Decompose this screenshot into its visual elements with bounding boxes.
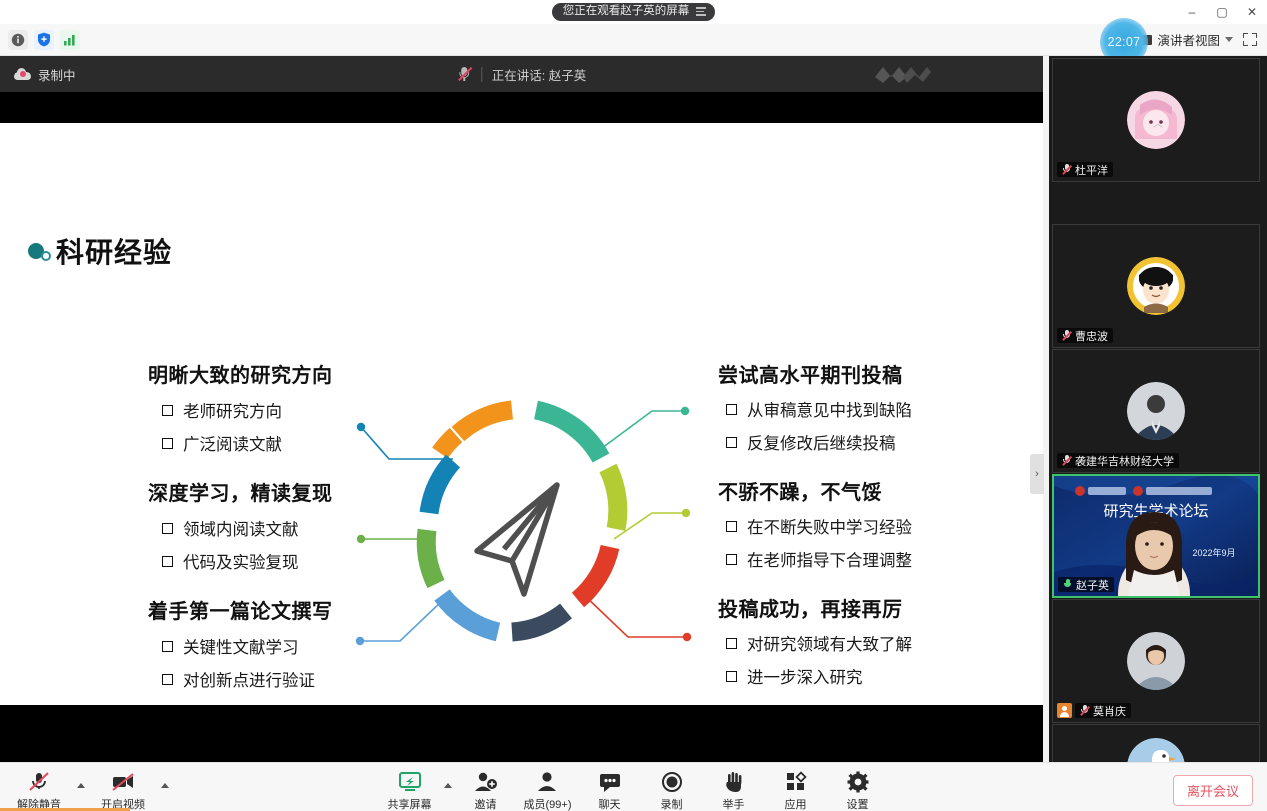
paper-plane-icon <box>477 485 557 594</box>
list-item: 领域内阅读文献 <box>162 516 378 540</box>
participant-tile[interactable]: 莫肖庆 <box>1052 599 1260 723</box>
list-item: 在不断失败中学习经验 <box>726 514 968 538</box>
checkbox-square-icon <box>726 521 737 532</box>
apps-icon <box>783 771 809 793</box>
block-heading: 深度学习，精读复现 <box>148 477 378 506</box>
panel-collapse-handle[interactable]: › <box>1030 454 1044 494</box>
block-heading: 着手第一篇论文撰写 <box>148 595 378 624</box>
avatar <box>1127 382 1185 440</box>
invite-label: 邀请 <box>475 796 497 811</box>
list-item-label: 进一步深入研究 <box>747 664 863 688</box>
participant-name: 莫肖庆 <box>1093 703 1126 719</box>
checkbox-square-icon <box>162 641 173 652</box>
share-status-bar: 录制中 正在讲话: 赵子英 <box>0 56 1043 92</box>
chat-button[interactable]: 聊天 <box>579 767 641 811</box>
list-item: 对研究领域有大致了解 <box>726 631 968 655</box>
invite-icon <box>473 771 499 793</box>
raise-hand-icon <box>721 771 747 793</box>
mic-muted-icon <box>26 771 52 793</box>
apps-button[interactable]: 应用 <box>765 767 827 811</box>
slide-left-column: 明晰大致的研究方向 老师研究方向 广泛阅读文献 深度学习，精读复现 领域内阅读文… <box>148 359 378 705</box>
checkbox-square-icon <box>726 671 737 682</box>
participant-tile[interactable]: 袭建华吉林财经大学 <box>1052 349 1260 473</box>
record-icon <box>659 771 685 793</box>
pill-menu-icon[interactable] <box>696 7 706 16</box>
list-item: 老师研究方向 <box>162 398 378 422</box>
mic-muted-icon <box>1062 330 1071 341</box>
list-item-label: 广泛阅读文献 <box>183 431 282 455</box>
checkbox-square-icon <box>162 438 173 449</box>
apps-label: 应用 <box>785 796 807 811</box>
window-title-bar: 您正在观看赵子英的屏幕 – ▢ ✕ <box>0 0 1267 24</box>
slide-block: 深度学习，精读复现 领域内阅读文献 代码及实验复现 <box>148 477 378 573</box>
meeting-toolbar: 解除静音 开启视频 <box>0 762 1267 811</box>
close-button[interactable]: ✕ <box>1237 0 1267 24</box>
view-mode-label: 演讲者视图 <box>1157 30 1220 49</box>
participant-nametag: 杜平洋 <box>1057 162 1113 177</box>
list-item-label: 从审稿意见中找到缺陷 <box>747 397 912 421</box>
camera-off-icon <box>110 771 136 793</box>
slide-block: 明晰大致的研究方向 老师研究方向 广泛阅读文献 <box>148 359 378 455</box>
maximize-button[interactable]: ▢ <box>1207 0 1237 24</box>
avatar-badge-icon <box>1057 703 1072 718</box>
participant-name: 赵子英 <box>1076 577 1109 593</box>
list-item: 从审稿意见中找到缺陷 <box>726 397 968 421</box>
record-label: 录制 <box>661 796 683 811</box>
checkbox-square-icon <box>726 437 737 448</box>
cloud-recording-icon <box>14 69 31 80</box>
list-item: 进一步深入研究 <box>726 664 968 688</box>
block-list: 从审稿意见中找到缺陷 反复修改后继续投稿 <box>718 397 968 454</box>
participant-nametag: 袭建华吉林财经大学 <box>1057 453 1179 468</box>
share-screen-label: 共享屏幕 <box>388 796 432 811</box>
fullscreen-icon[interactable] <box>1243 33 1257 46</box>
list-item: 对创新点进行验证 <box>162 667 378 691</box>
video-options-caret[interactable] <box>158 767 172 788</box>
slide-block: 尝试高水平期刊投稿 从审稿意见中找到缺陷 反复修改后继续投稿 <box>718 359 968 454</box>
raise-hand-button[interactable]: 举手 <box>703 767 765 811</box>
list-item: 代码及实验复现 <box>162 549 378 573</box>
clock-time: 22:07 <box>1108 35 1141 49</box>
shared-screen-area: 录制中 正在讲话: 赵子英 科研经验 <box>0 56 1043 762</box>
slide-block: 着手第一篇论文撰写 关键性文献学习 对创新点进行验证 <box>148 595 378 691</box>
list-item-label: 对创新点进行验证 <box>183 667 315 691</box>
list-item-label: 老师研究方向 <box>183 398 282 422</box>
list-item: 广泛阅读文献 <box>162 431 378 455</box>
participant-tile-active-speaker[interactable]: 研究生学术论坛 2022年9月 赵子英 <box>1052 474 1260 598</box>
checkbox-square-icon <box>726 554 737 565</box>
list-item: 在老师指导下合理调整 <box>726 547 968 571</box>
share-screen-icon <box>397 771 423 793</box>
checkbox-square-icon <box>726 404 737 415</box>
participant-tile[interactable]: 曹忠波 <box>1052 224 1260 348</box>
chat-label: 聊天 <box>599 796 621 811</box>
presentation-slide: 科研经验 明晰大致的研究方向 老师研究方向 广泛阅读文献 深度学习，精读复现 领… <box>0 123 1043 705</box>
block-list: 对研究领域有大致了解 进一步深入研究 <box>718 631 968 688</box>
avatar <box>1127 738 1185 762</box>
audio-wave-icon <box>873 63 933 85</box>
list-item-label: 反复修改后继续投稿 <box>747 430 896 454</box>
screen-share-notice-pill[interactable]: 您正在观看赵子英的屏幕 <box>552 3 716 22</box>
chrome-left-icons <box>0 30 80 50</box>
chevron-down-icon <box>1225 37 1233 42</box>
start-video-button[interactable]: 开启视频 <box>92 767 154 811</box>
mic-muted-icon <box>457 66 471 82</box>
audio-options-caret[interactable] <box>74 767 88 788</box>
video-overlay-line2: 2022年9月 <box>1192 547 1235 558</box>
settings-gear-icon <box>845 771 871 793</box>
participants-button[interactable]: 成员(99+) <box>517 767 579 811</box>
raise-hand-label: 举手 <box>723 796 745 811</box>
circular-diagram <box>352 389 696 653</box>
invite-button[interactable]: 邀请 <box>455 767 517 811</box>
checkbox-square-icon <box>162 523 173 534</box>
slide-block: 不骄不躁，不气馁 在不断失败中学习经验 在老师指导下合理调整 <box>718 476 968 571</box>
list-item-label: 在老师指导下合理调整 <box>747 547 912 571</box>
list-item: 反复修改后继续投稿 <box>726 430 968 454</box>
secondary-toolbar: 30 演讲者视图 <box>0 24 1267 56</box>
screen-share-notice-text: 您正在观看赵子英的屏幕 <box>563 6 690 18</box>
active-speaker-indicator: 正在讲话: 赵子英 <box>457 65 586 84</box>
checkbox-square-icon <box>726 638 737 649</box>
list-item-label: 领域内阅读文献 <box>183 516 299 540</box>
block-heading: 投稿成功，再接再厉 <box>718 593 968 622</box>
unmute-button[interactable]: 解除静音 <box>8 767 70 811</box>
list-item-label: 代码及实验复现 <box>183 549 299 573</box>
mic-muted-icon <box>1062 455 1071 466</box>
chat-icon <box>597 771 623 793</box>
mic-muted-icon <box>1062 164 1071 175</box>
list-item: 关键性文献学习 <box>162 634 378 658</box>
speaking-label: 正在讲话: 赵子英 <box>492 65 586 84</box>
rail-scroll-up-button[interactable]: ︿ <box>1049 114 1267 130</box>
list-item-label: 在不断失败中学习经验 <box>747 514 912 538</box>
signal-bars-icon[interactable] <box>60 30 80 50</box>
recording-label: 录制中 <box>38 65 76 84</box>
settings-button[interactable]: 设置 <box>827 767 889 811</box>
participants-rail: ︿ 杜平洋 <box>1049 56 1267 762</box>
zoom-meeting-window: 您正在观看赵子英的屏幕 – ▢ ✕ 30 演讲者视图 <box>0 0 1267 811</box>
info-icon[interactable] <box>8 30 28 50</box>
block-heading: 尝试高水平期刊投稿 <box>718 359 968 388</box>
avatar <box>1127 257 1185 315</box>
mic-muted-icon <box>1080 705 1089 716</box>
block-heading: 不骄不躁，不气馁 <box>718 476 968 505</box>
participant-nametag: 莫肖庆 <box>1075 703 1131 718</box>
block-list: 老师研究方向 广泛阅读文献 <box>148 398 378 455</box>
toolbar-center-group: 共享屏幕 邀请 <box>379 767 889 811</box>
toolbar-left-group: 解除静音 开启视频 <box>8 767 172 811</box>
participants-label: 成员(99+) <box>524 796 572 811</box>
checkbox-square-icon <box>162 556 173 567</box>
participant-tile[interactable]: ﹀ <box>1052 724 1260 762</box>
slide-title-group: 科研经验 <box>28 231 172 271</box>
shield-icon[interactable] <box>34 30 54 50</box>
window-controls: – ▢ ✕ <box>1177 0 1267 24</box>
list-item-label: 关键性文献学习 <box>183 634 299 658</box>
block-list: 领域内阅读文献 代码及实验复现 <box>148 516 378 573</box>
participant-name: 杜平洋 <box>1075 162 1108 178</box>
recording-indicator[interactable]: 录制中 <box>0 65 76 84</box>
block-heading: 明晰大致的研究方向 <box>148 359 378 388</box>
share-options-caret[interactable] <box>441 767 455 788</box>
block-list: 在不断失败中学习经验 在老师指导下合理调整 <box>718 514 968 571</box>
leave-meeting-button[interactable]: 离开会议 <box>1173 775 1253 806</box>
participant-nametag: 曹忠波 <box>1057 328 1113 343</box>
divider <box>481 67 482 82</box>
checkbox-square-icon <box>162 405 173 416</box>
checkbox-square-icon <box>162 674 173 685</box>
participant-name: 袭建华吉林财经大学 <box>1075 453 1174 469</box>
list-item-label: 对研究领域有大致了解 <box>747 631 912 655</box>
participant-nametag: 赵子英 <box>1058 577 1114 592</box>
page-title: 科研经验 <box>56 231 172 271</box>
view-mode-select[interactable]: 演讲者视图 <box>1140 30 1233 49</box>
slide-right-column: 尝试高水平期刊投稿 从审稿意见中找到缺陷 反复修改后继续投稿 不骄不躁，不气馁 … <box>718 359 968 705</box>
slide-block: 投稿成功，再接再厉 对研究领域有大致了解 进一步深入研究 <box>718 593 968 688</box>
minimize-button[interactable]: – <box>1177 0 1207 24</box>
bullet-dot-outline-icon <box>41 251 51 261</box>
settings-label: 设置 <box>847 796 869 811</box>
mic-active-icon <box>1063 579 1072 590</box>
participant-name: 曹忠波 <box>1075 328 1108 344</box>
share-screen-button[interactable]: 共享屏幕 <box>379 767 441 811</box>
participants-icon <box>535 771 561 793</box>
record-button[interactable]: 录制 <box>641 767 703 811</box>
block-list: 关键性文献学习 对创新点进行验证 <box>148 634 378 691</box>
avatar <box>1127 632 1185 690</box>
